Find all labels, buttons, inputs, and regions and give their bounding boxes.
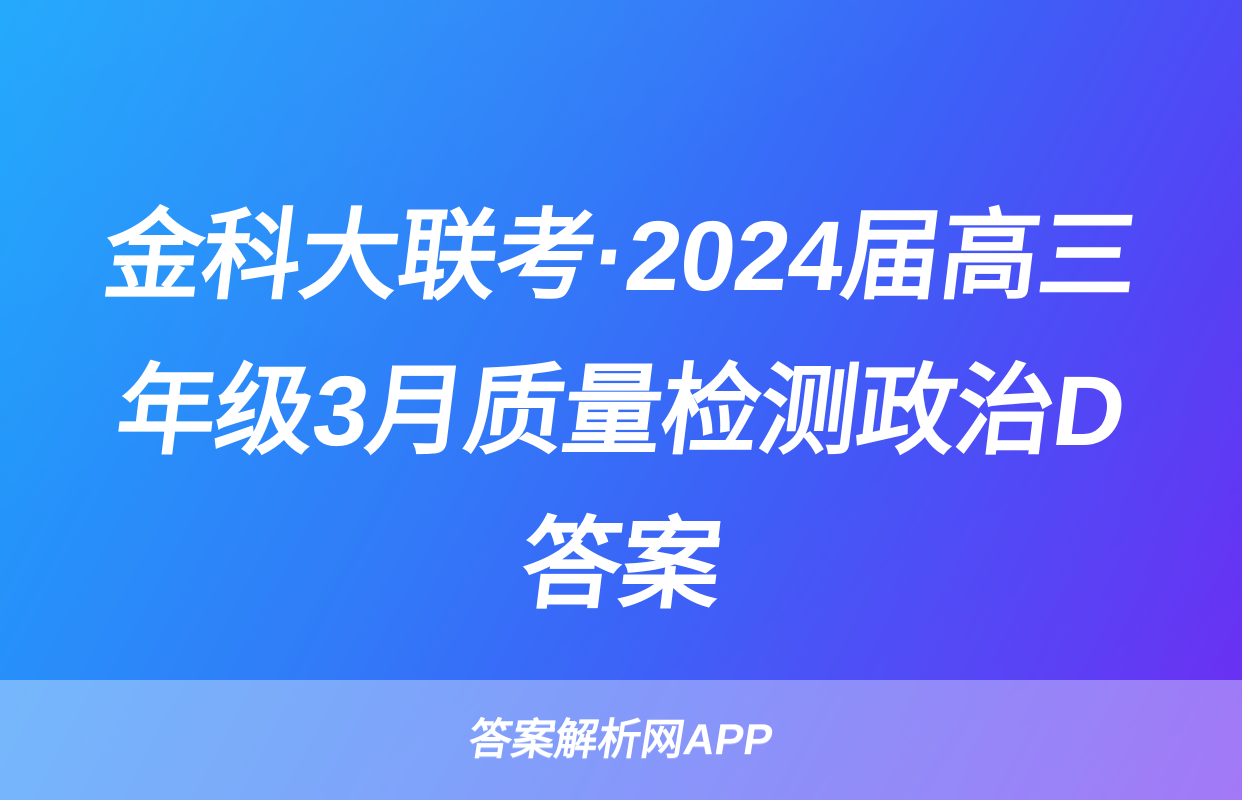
exam-answer-poster: 金科大联考·2024届高三 年级3月质量检测政治D 答案 答案解析网APP xyxy=(0,0,1242,800)
page-title-line-1: 金科大联考·2024届高三 xyxy=(24,178,1217,333)
page-title: 金科大联考·2024届高三 年级3月质量检测政治D 答案 xyxy=(0,178,1242,643)
page-title-line-3: 答案 xyxy=(24,488,1217,643)
page-title-line-2: 年级3月质量检测政治D xyxy=(24,333,1217,488)
watermark-band: 答案解析网APP xyxy=(0,680,1242,800)
watermark-label: 答案解析网APP xyxy=(466,719,776,762)
